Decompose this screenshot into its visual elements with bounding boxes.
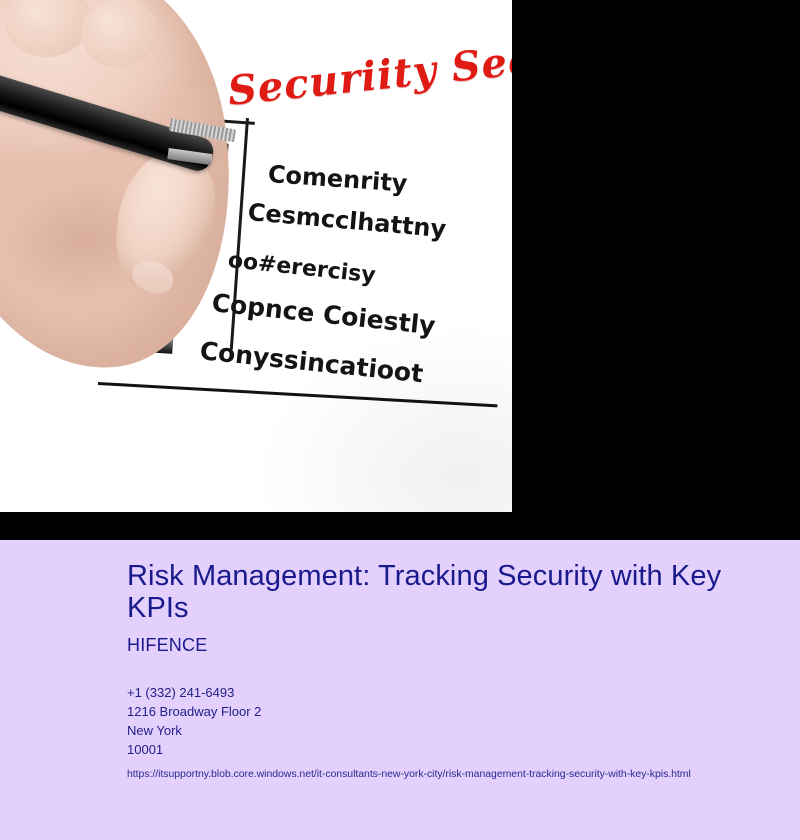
contact-zip: 10001 <box>127 740 760 759</box>
black-frame-bottom <box>0 512 800 540</box>
contact-street: 1216 Broadway Floor 2 <box>127 702 760 721</box>
black-frame-right <box>512 0 800 540</box>
contact-phone[interactable]: +1 (332) 241-6493 <box>127 683 760 702</box>
info-panel: Risk Management: Tracking Security with … <box>0 540 800 840</box>
checklist-item-label-5: Conyssincatioot <box>198 336 424 388</box>
page-root: ✔ ✔ Securiity Seci Comenrity Cesmcclhatt… <box>0 0 800 840</box>
contact-city: New York <box>127 721 760 740</box>
source-url-link[interactable]: https://itsupportny.blob.core.windows.ne… <box>127 768 760 780</box>
checklist-item-label-2: Cesmcclhattny <box>247 198 448 243</box>
checklist-item-label-3: oo#erercisy <box>227 248 377 288</box>
company-name: HIFENCE <box>127 635 760 656</box>
checklist-item-label-1: Comenrity <box>267 160 408 198</box>
knuckle-2 <box>77 0 162 72</box>
contact-details: +1 (332) 241-6493 1216 Broadway Floor 2 … <box>127 683 760 759</box>
page-title: Risk Management: Tracking Security with … <box>127 560 737 625</box>
hero-image: ✔ ✔ Securiity Seci Comenrity Cesmcclhatt… <box>0 0 512 512</box>
info-content: Risk Management: Tracking Security with … <box>127 560 760 780</box>
checklist-item-label-4: Copnce Coiestly <box>210 288 436 340</box>
